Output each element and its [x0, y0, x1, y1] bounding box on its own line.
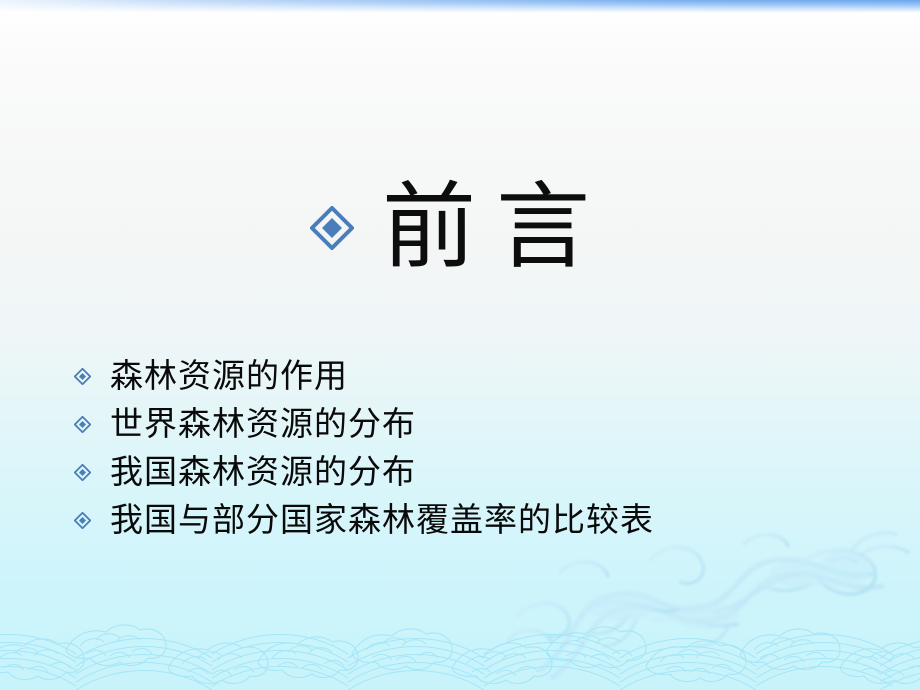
list-item-label: 我国森林资源的分布	[110, 455, 416, 490]
chinese-wave-pattern-icon	[0, 594, 920, 690]
page-title: 前言	[380, 181, 610, 275]
list-item-label: 森林资源的作用	[110, 359, 348, 394]
diamond-bullet-icon	[74, 512, 91, 529]
list-item[interactable]: 我国与部分国家森林覆盖率的比较表	[74, 496, 874, 544]
diamond-bullet-icon	[74, 464, 91, 481]
top-accent-bar-fade	[0, 0, 920, 13]
list-item-label: 我国与部分国家森林覆盖率的比较表	[110, 503, 654, 538]
diamond-bullet-icon	[310, 206, 354, 250]
diamond-bullet-icon	[74, 368, 91, 385]
list-item-label: 世界森林资源的分布	[110, 407, 416, 442]
list-item[interactable]: 世界森林资源的分布	[74, 400, 874, 448]
slide-canvas: 前言 森林资源的作用 世界森林资源的分布 我国森林资源的分布	[0, 0, 920, 690]
agenda-list: 森林资源的作用 世界森林资源的分布 我国森林资源的分布 我国与部分国家森林覆盖率…	[74, 352, 874, 544]
list-item[interactable]: 我国森林资源的分布	[74, 448, 874, 496]
dragon-watermark-icon	[500, 520, 920, 690]
slide-title-row: 前言	[0, 168, 920, 288]
list-item[interactable]: 森林资源的作用	[74, 352, 874, 400]
bottom-decoration	[0, 520, 920, 690]
diamond-bullet-icon	[74, 416, 91, 433]
